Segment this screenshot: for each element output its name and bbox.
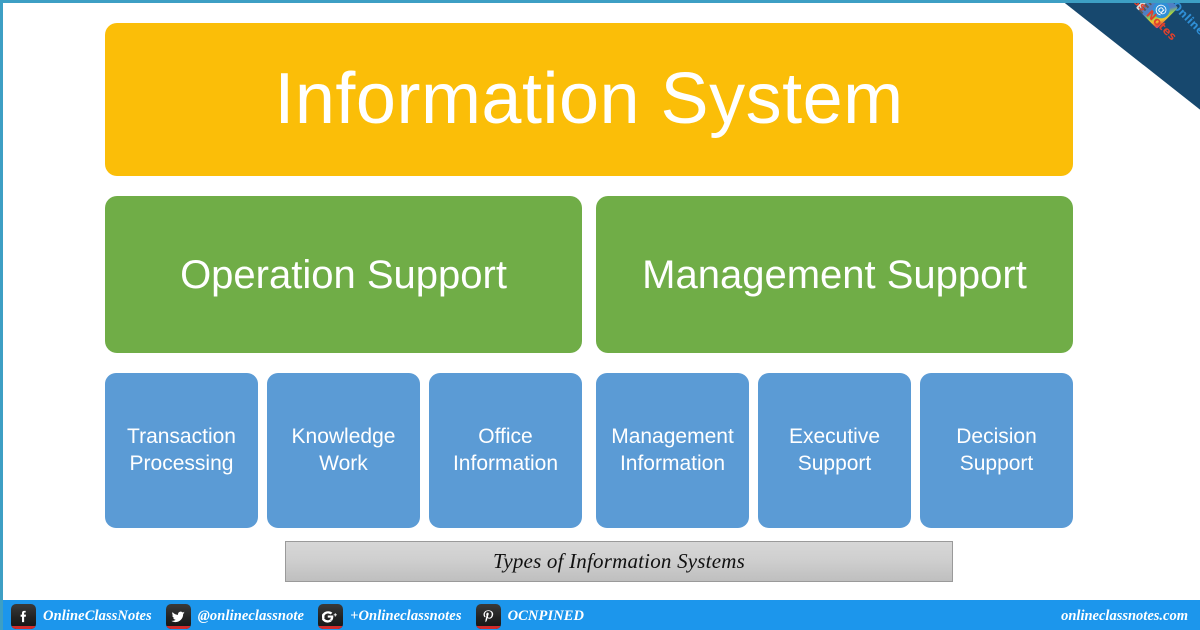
system-box-label-line2: Work	[319, 452, 368, 475]
system-box-label-line1: Office	[478, 425, 532, 448]
system-types-row: Transaction Processing Knowledge Work Of…	[105, 373, 1073, 528]
google-plus-icon[interactable]	[318, 604, 343, 629]
support-box-label: Operation Support	[170, 250, 517, 300]
support-level-row: Operation Support Management Support	[105, 196, 1073, 353]
system-box-label-line2: Processing	[130, 452, 234, 475]
support-box-management-support: Management Support	[596, 196, 1073, 353]
system-box-label: Knowledge Work	[286, 424, 402, 478]
footer-site-url[interactable]: onlineclassnotes.com	[1061, 608, 1188, 625]
diagram-title-row: Information System	[105, 23, 1073, 176]
system-box-executive-support: Executive Support	[758, 373, 911, 528]
title-box-information-system: Information System	[105, 23, 1073, 176]
system-box-office-information: Office Information	[429, 373, 582, 528]
social-label-facebook: OnlineClassNotes	[43, 608, 152, 625]
twitter-icon[interactable]	[166, 604, 191, 629]
system-box-label: Transaction Processing	[121, 424, 242, 478]
system-box-label: Decision Support	[950, 424, 1043, 478]
diagram-caption: Types of Information Systems	[285, 541, 953, 582]
system-box-transaction-processing: Transaction Processing	[105, 373, 258, 528]
social-link-twitter[interactable]: @onlineclassnote	[166, 604, 304, 629]
page-title: Information System	[274, 62, 903, 138]
system-box-label-line1: Management	[611, 425, 734, 448]
system-box-label: Executive Support	[783, 424, 886, 478]
pinterest-icon[interactable]	[476, 604, 501, 629]
system-box-label-line1: Executive	[789, 425, 880, 448]
system-box-label-line1: Decision	[956, 425, 1037, 448]
system-box-label-line2: Support	[798, 452, 872, 475]
system-box-management-information: Management Information	[596, 373, 749, 528]
system-box-label-line2: Information	[453, 452, 558, 475]
information-system-diagram: Information System Operation Support Man…	[3, 3, 1200, 600]
system-box-label-line2: Support	[960, 452, 1034, 475]
support-box-label: Management Support	[632, 250, 1037, 300]
social-label-pinterest: OCNPINED	[508, 608, 585, 625]
system-box-label-line1: Transaction	[127, 425, 236, 448]
system-box-label: Management Information	[605, 424, 740, 478]
infographic-page: Online @ Class Notes Information System …	[0, 0, 1200, 630]
system-box-decision-support: Decision Support	[920, 373, 1073, 528]
system-box-label-line1: Knowledge	[292, 425, 396, 448]
footer-bar: OnlineClassNotes @onlineclassnote +O	[0, 600, 1200, 630]
diagram-caption-label: Types of Information Systems	[493, 549, 745, 574]
social-link-pinterest[interactable]: OCNPINED	[476, 604, 585, 629]
system-box-label: Office Information	[447, 424, 564, 478]
social-label-google-plus: +Onlineclassnotes	[350, 608, 461, 625]
social-link-facebook[interactable]: OnlineClassNotes	[11, 604, 152, 629]
facebook-icon[interactable]	[11, 604, 36, 629]
system-box-knowledge-work: Knowledge Work	[267, 373, 420, 528]
social-link-google-plus[interactable]: +Onlineclassnotes	[318, 604, 461, 629]
support-box-operation-support: Operation Support	[105, 196, 582, 353]
system-box-label-line2: Information	[620, 452, 725, 475]
social-label-twitter: @onlineclassnote	[198, 608, 304, 625]
